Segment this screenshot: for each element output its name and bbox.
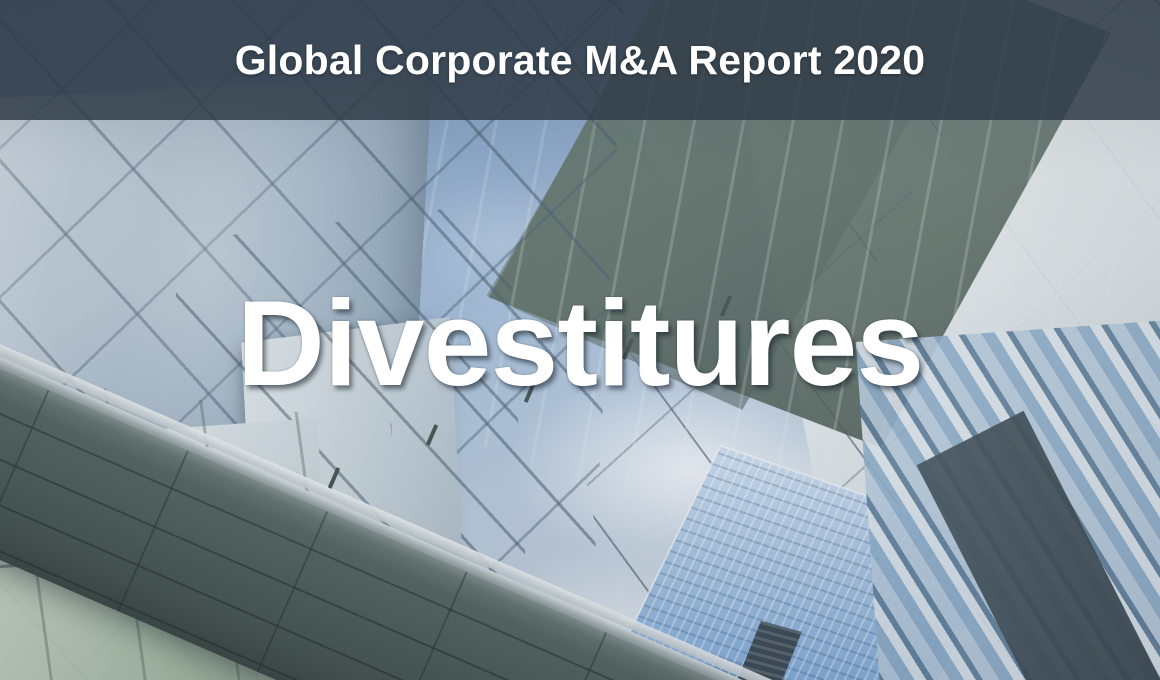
report-header-title: Global Corporate M&A Report 2020 [235, 40, 926, 81]
header-band: Global Corporate M&A Report 2020 [0, 0, 1160, 120]
report-cover: Global Corporate M&A Report 2020 Divesti… [0, 0, 1160, 680]
cover-page-title: Divestitures [0, 282, 1160, 404]
